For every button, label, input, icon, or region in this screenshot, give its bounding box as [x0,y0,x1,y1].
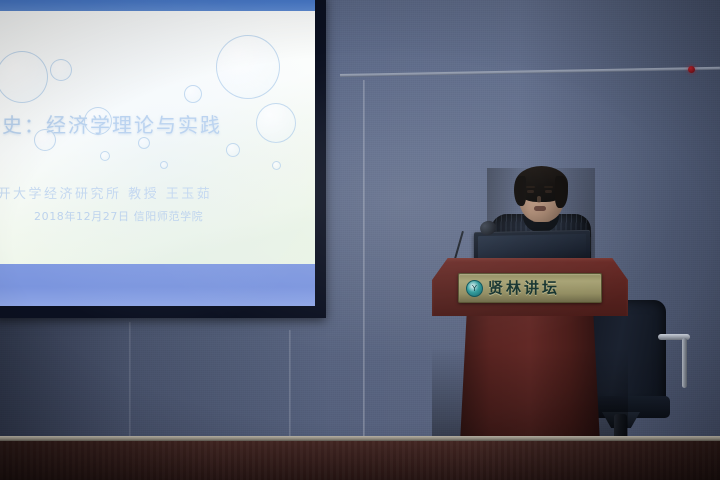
slide-bubble [100,151,110,161]
slide-title: 经济史：经济学理论与实践 [0,109,258,138]
slide-body: 经济史：经济学理论与实践 南开大学经济研究所 教授 王玉茹 2018年12月27… [0,11,315,264]
slide-bubble [184,85,202,103]
slide-author: 南开大学经济研究所 教授 王玉茹 [0,183,282,202]
indicator-light-icon [688,66,695,73]
chair-armrest-post [682,338,687,388]
presenter-nose [537,196,541,203]
projection-screen-frame: 经济史：经济学理论与实践 南开大学经济研究所 教授 王玉茹 2018年12月27… [0,0,326,318]
slide-bubble [226,143,240,157]
presenter-hair-left [514,176,526,206]
presenter-hair-right [555,176,568,208]
slide-bubble [160,161,168,169]
wall-panel-seam [129,322,131,438]
projection-screen: 经济史：经济学理论与实践 南开大学经济研究所 教授 王玉茹 2018年12月27… [0,0,315,306]
presenter-eyebrow-right [544,186,553,188]
presenter-mouth [534,206,546,211]
slide-top-band [0,0,315,11]
presenter-eye-left [527,190,534,193]
slide-bubble [272,161,281,170]
presenter-eye-right [545,190,552,193]
slide-bubble [256,103,296,143]
slide-bottom-band [0,264,315,306]
presenter-eyebrow-left [526,186,535,188]
slide-bubble [50,59,72,81]
wall-panel-seam [289,330,291,438]
slide-bubble [216,35,280,99]
wall-panel-seam [363,80,365,438]
lecture-hall-photo: 经济史：经济学理论与实践 南开大学经济研究所 教授 王玉茹 2018年12月27… [0,0,720,480]
slide-bubble [0,51,48,103]
slide-bubble [138,137,150,149]
wainscot-panel [0,441,720,480]
slide-date: 2018年12月27日 信阳师范学院 [34,208,315,224]
